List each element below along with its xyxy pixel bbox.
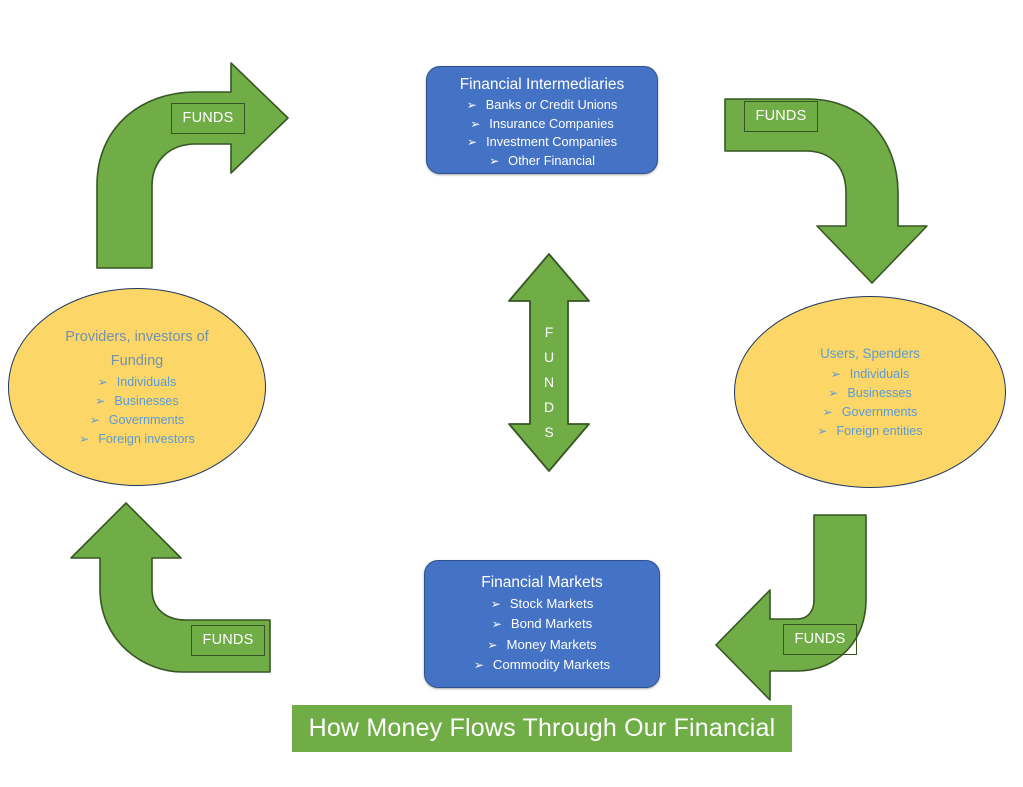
list-item-label: Banks or Credit Unions (486, 97, 618, 112)
list-item: ➢Individuals (817, 365, 922, 384)
bullet-arrow-icon: ➢ (470, 117, 480, 131)
bullet-arrow-icon: ➢ (79, 432, 89, 446)
list-item-label: Governments (109, 413, 185, 427)
diagram-canvas: FUNDS FUNDS FUNDS FUNDS F U N D S Financ… (0, 0, 1023, 787)
list-item: ➢Individuals (79, 373, 195, 392)
list-item: ➢Governments (79, 411, 195, 430)
bullet-arrow-icon: ➢ (95, 394, 105, 408)
funds-label-bottom-left: FUNDS (191, 625, 265, 656)
list-item-label: Stock Markets (510, 596, 594, 611)
node-financial-markets[interactable]: Financial Markets ➢Stock Markets ➢Bond M… (424, 560, 660, 688)
list-item: ➢Foreign entities (817, 422, 922, 441)
funds-letter-s: S (539, 420, 559, 445)
title-banner: How Money Flows Through Our Financial (292, 705, 792, 752)
list-item-label: Commodity Markets (493, 657, 610, 672)
list-item-label: Insurance Companies (489, 116, 613, 131)
funds-label-center-vertical: F U N D S (539, 320, 559, 445)
list-item-label: Foreign investors (98, 432, 195, 446)
list-item: ➢Money Markets (425, 635, 659, 655)
list-item: ➢Other Financial (427, 152, 657, 171)
node-users-spenders[interactable]: Users, Spenders ➢Individuals ➢Businesses… (734, 296, 1006, 488)
bullet-arrow-icon: ➢ (98, 375, 108, 389)
bullet-arrow-icon: ➢ (492, 617, 502, 631)
bullet-arrow-icon: ➢ (489, 154, 499, 168)
node-title-providers-line2: Funding (111, 349, 163, 373)
bullet-arrow-icon: ➢ (467, 98, 477, 112)
list-item-label: Bond Markets (511, 616, 592, 631)
list-item-label: Individuals (850, 367, 910, 381)
bullet-arrow-icon: ➢ (487, 638, 497, 652)
node-title-users: Users, Spenders (820, 343, 920, 365)
funds-letter-d: D (539, 395, 559, 420)
bullet-arrow-icon: ➢ (831, 367, 841, 381)
list-item: ➢Banks or Credit Unions (427, 96, 657, 115)
funds-label-top-left: FUNDS (171, 103, 245, 134)
list-item: ➢Businesses (79, 392, 195, 411)
list-item: ➢Foreign investors (79, 430, 195, 449)
list-item: ➢Bond Markets (425, 614, 659, 634)
list-item-label: Money Markets (506, 637, 596, 652)
list-item-label: Governments (842, 405, 918, 419)
bullet-arrow-icon: ➢ (467, 135, 477, 149)
bullet-arrow-icon: ➢ (817, 424, 827, 438)
node-list-users: ➢Individuals ➢Businesses ➢Governments ➢F… (817, 365, 922, 441)
funds-letter-n: N (539, 370, 559, 395)
node-title-markets: Financial Markets (425, 573, 659, 593)
bullet-arrow-icon: ➢ (491, 597, 501, 611)
bullet-arrow-icon: ➢ (823, 405, 833, 419)
list-item: ➢Investment Companies (427, 133, 657, 152)
list-item-label: Businesses (114, 394, 178, 408)
list-item-label: Investment Companies (486, 134, 617, 149)
funds-label-bottom-right: FUNDS (783, 624, 857, 655)
node-list-intermediaries: ➢Banks or Credit Unions ➢Insurance Compa… (427, 96, 657, 170)
list-item: ➢Stock Markets (425, 594, 659, 614)
node-title-providers-line1: Providers, investors of (65, 325, 208, 349)
node-list-markets: ➢Stock Markets ➢Bond Markets ➢Money Mark… (425, 594, 659, 676)
list-item-label: Businesses (847, 386, 911, 400)
funds-letter-u: U (539, 345, 559, 370)
list-item-label: Individuals (117, 375, 177, 389)
list-item-label: Other Financial (508, 153, 595, 168)
node-title-intermediaries: Financial Intermediaries (427, 75, 657, 95)
arrow-top-left (97, 63, 288, 268)
list-item: ➢Governments (817, 403, 922, 422)
node-financial-intermediaries[interactable]: Financial Intermediaries ➢Banks or Credi… (426, 66, 658, 174)
node-providers-of-funding[interactable]: Providers, investors of Funding ➢Individ… (8, 288, 266, 486)
list-item: ➢Businesses (817, 384, 922, 403)
funds-letter-f: F (539, 320, 559, 345)
bullet-arrow-icon: ➢ (474, 658, 484, 672)
funds-label-top-right: FUNDS (744, 101, 818, 132)
list-item-label: Foreign entities (836, 424, 922, 438)
list-item: ➢Commodity Markets (425, 655, 659, 675)
bullet-arrow-icon: ➢ (90, 413, 100, 427)
bullet-arrow-icon: ➢ (828, 386, 838, 400)
node-list-providers: ➢Individuals ➢Businesses ➢Governments ➢F… (79, 373, 195, 449)
list-item: ➢Insurance Companies (427, 115, 657, 134)
arrow-bottom-right (716, 515, 866, 700)
